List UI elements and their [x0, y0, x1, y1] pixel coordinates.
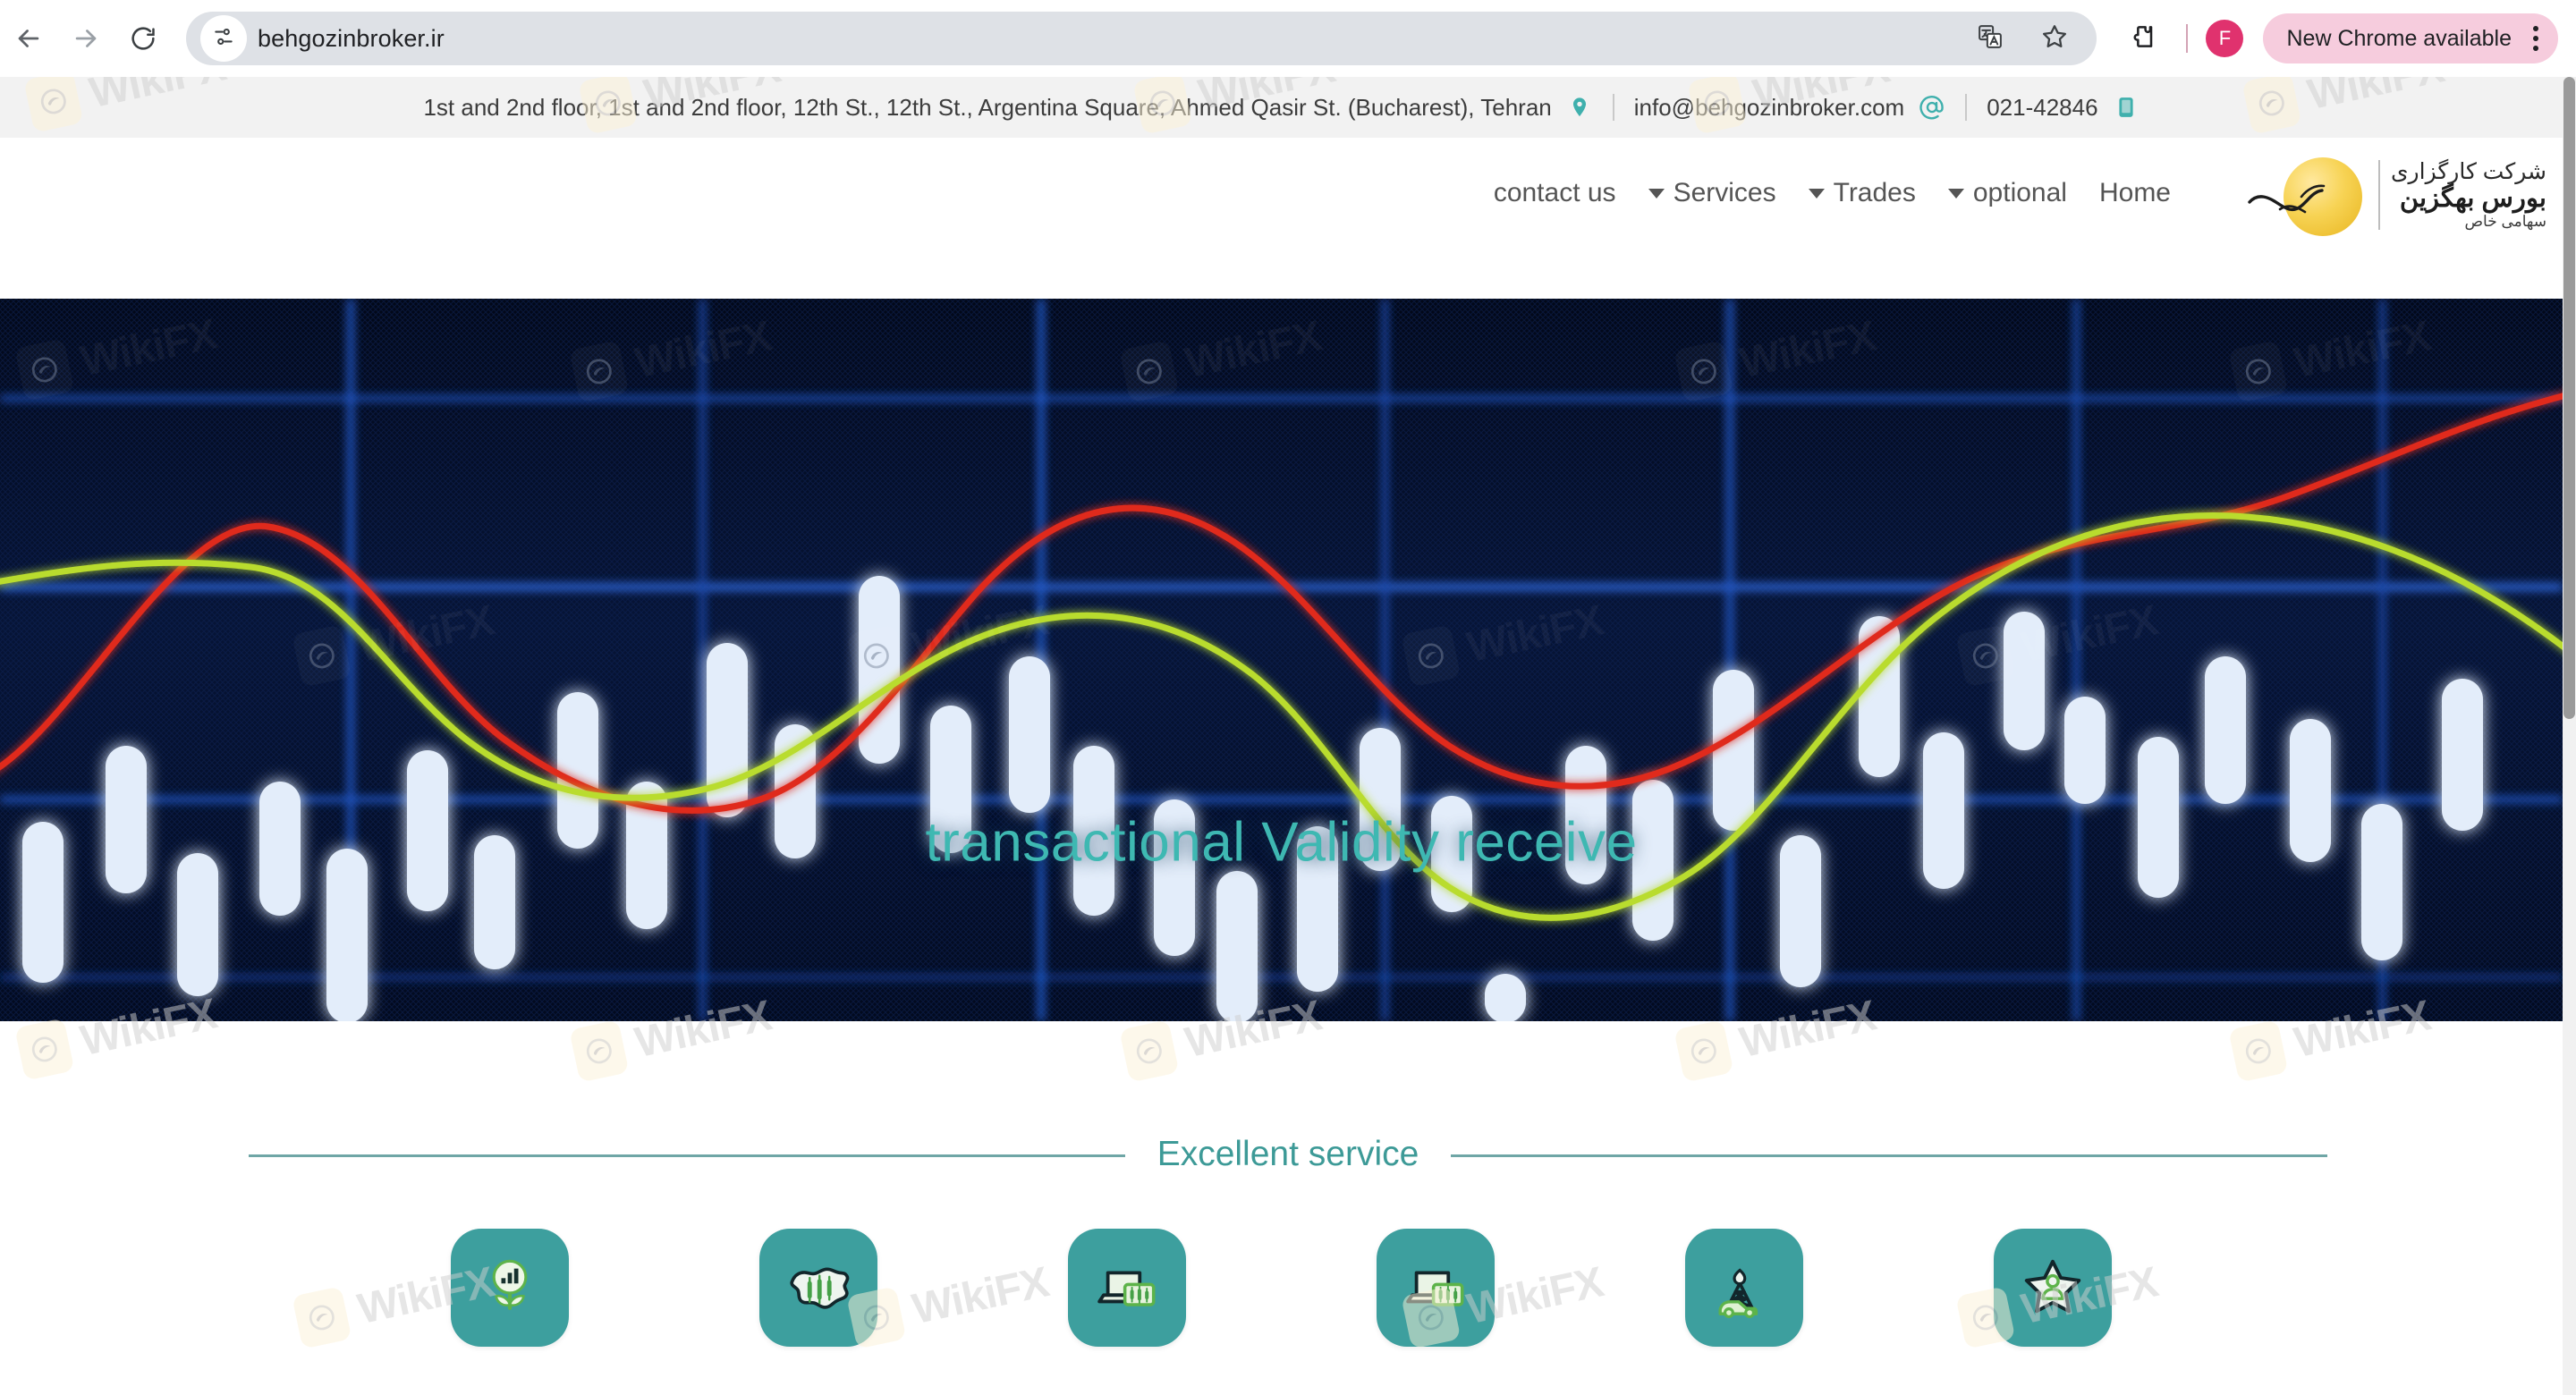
nav-label: Services: [1674, 178, 1776, 208]
phone-icon: [2113, 94, 2140, 121]
service-tile-2[interactable]: [759, 1229, 877, 1347]
toolbar-divider: [2186, 24, 2188, 53]
chrome-update-label: New Chrome available: [2286, 26, 2512, 52]
extensions-puzzle-icon: [2130, 22, 2158, 55]
iran-map-candlestick-icon: [784, 1253, 853, 1323]
kebab-menu-icon[interactable]: [2524, 26, 2547, 51]
divider-left: [249, 1154, 1125, 1157]
star-person-icon: [2018, 1253, 2088, 1323]
translate-button[interactable]: [1966, 14, 2014, 63]
site-settings-button[interactable]: [200, 15, 247, 62]
divider-right: [1451, 1154, 2327, 1157]
logo-line-1: شرکت کارگزاری: [2391, 160, 2546, 183]
nav-label: Home: [2099, 178, 2171, 208]
star-icon: [2040, 22, 2069, 55]
company-email[interactable]: info@behgozinbroker.com: [1634, 94, 1904, 122]
logo-line-3: سهامی خاص: [2465, 214, 2547, 230]
address-bar[interactable]: behgozinbroker.ir: [186, 12, 2097, 65]
extensions-button[interactable]: [2120, 14, 2168, 63]
gold-coin-calligraphy-logo: [2248, 150, 2366, 240]
forward-button[interactable]: [57, 10, 114, 67]
chevron-down-icon: [1948, 189, 1964, 199]
scrollbar-thumb[interactable]: [2563, 77, 2575, 719]
hero-banner: transactional Validity receive: [0, 299, 2563, 1021]
nav-label: optional: [1973, 178, 2067, 208]
nav-label: contact us: [1494, 178, 1616, 208]
section-title: Excellent service: [1157, 1137, 1419, 1171]
company-address: 1st and 2nd floor, 1st and 2nd floor, 12…: [423, 94, 1551, 122]
map-pin-icon: [1566, 94, 1593, 121]
url-text: behgozinbroker.ir: [258, 25, 1966, 53]
vertical-scrollbar[interactable]: [2563, 77, 2576, 1395]
site-contact-bar: 1st and 2nd floor, 1st and 2nd floor, 12…: [0, 77, 2563, 138]
service-tile-3[interactable]: [1068, 1229, 1186, 1347]
service-tile-4[interactable]: [1377, 1229, 1495, 1347]
hero-title: transactional Validity receive: [0, 811, 2563, 875]
contact-divider-1: [1613, 94, 1614, 121]
translate-icon: [1977, 23, 2004, 55]
back-button[interactable]: [0, 10, 57, 67]
nav-item-trades[interactable]: Trades: [1792, 178, 1932, 208]
oil-rig-car-icon: [1709, 1253, 1779, 1323]
bookmark-button[interactable]: [2030, 14, 2079, 63]
hero-chart-graphic: [0, 299, 2563, 1021]
service-icon-row: [0, 1229, 2563, 1381]
profile-avatar[interactable]: F: [2206, 20, 2243, 57]
main-navigation: contact us Services Trades optional Home: [1478, 138, 2187, 249]
forward-arrow-icon: [71, 23, 101, 54]
logo-line-2: بورس بهگزین: [2400, 185, 2546, 212]
contact-divider-2: [1965, 94, 1967, 121]
service-tile-5[interactable]: [1685, 1229, 1803, 1347]
reload-button[interactable]: [114, 10, 172, 67]
laptop-candlestick-icon: [1402, 1254, 1470, 1322]
chevron-down-icon: [1809, 189, 1825, 199]
service-tile-6[interactable]: [1994, 1229, 2112, 1347]
company-phone[interactable]: 021-42846: [1987, 94, 2097, 122]
nav-label: Trades: [1834, 178, 1916, 208]
nav-item-contact-us[interactable]: contact us: [1478, 178, 1632, 208]
logo-wordmark: شرکت کارگزاری بورس بهگزین سهامی خاص: [2378, 160, 2546, 231]
at-sign-icon: [1919, 94, 1945, 121]
laptop-candlestick-icon: [1093, 1254, 1161, 1322]
back-arrow-icon: [13, 23, 44, 54]
flower-bar-chart-icon: [476, 1254, 544, 1322]
section-heading: Excellent service: [0, 1154, 2576, 1157]
chrome-update-button[interactable]: New Chrome available: [2263, 13, 2558, 63]
site-logo[interactable]: شرکت کارگزاری بورس بهگزین سهامی خاص: [2248, 148, 2546, 241]
nav-item-services[interactable]: Services: [1632, 178, 1792, 208]
site-navbar: contact us Services Trades optional Home: [0, 138, 2563, 249]
reload-icon: [129, 24, 157, 53]
nav-item-optional[interactable]: optional: [1932, 178, 2083, 208]
page-root: behgozinbroker.ir: [0, 0, 2576, 1395]
service-tile-1[interactable]: [451, 1229, 569, 1347]
browser-toolbar: behgozinbroker.ir: [0, 0, 2576, 77]
site-settings-icon: [212, 25, 235, 53]
chevron-down-icon: [1648, 189, 1665, 199]
nav-item-home[interactable]: Home: [2083, 178, 2187, 208]
